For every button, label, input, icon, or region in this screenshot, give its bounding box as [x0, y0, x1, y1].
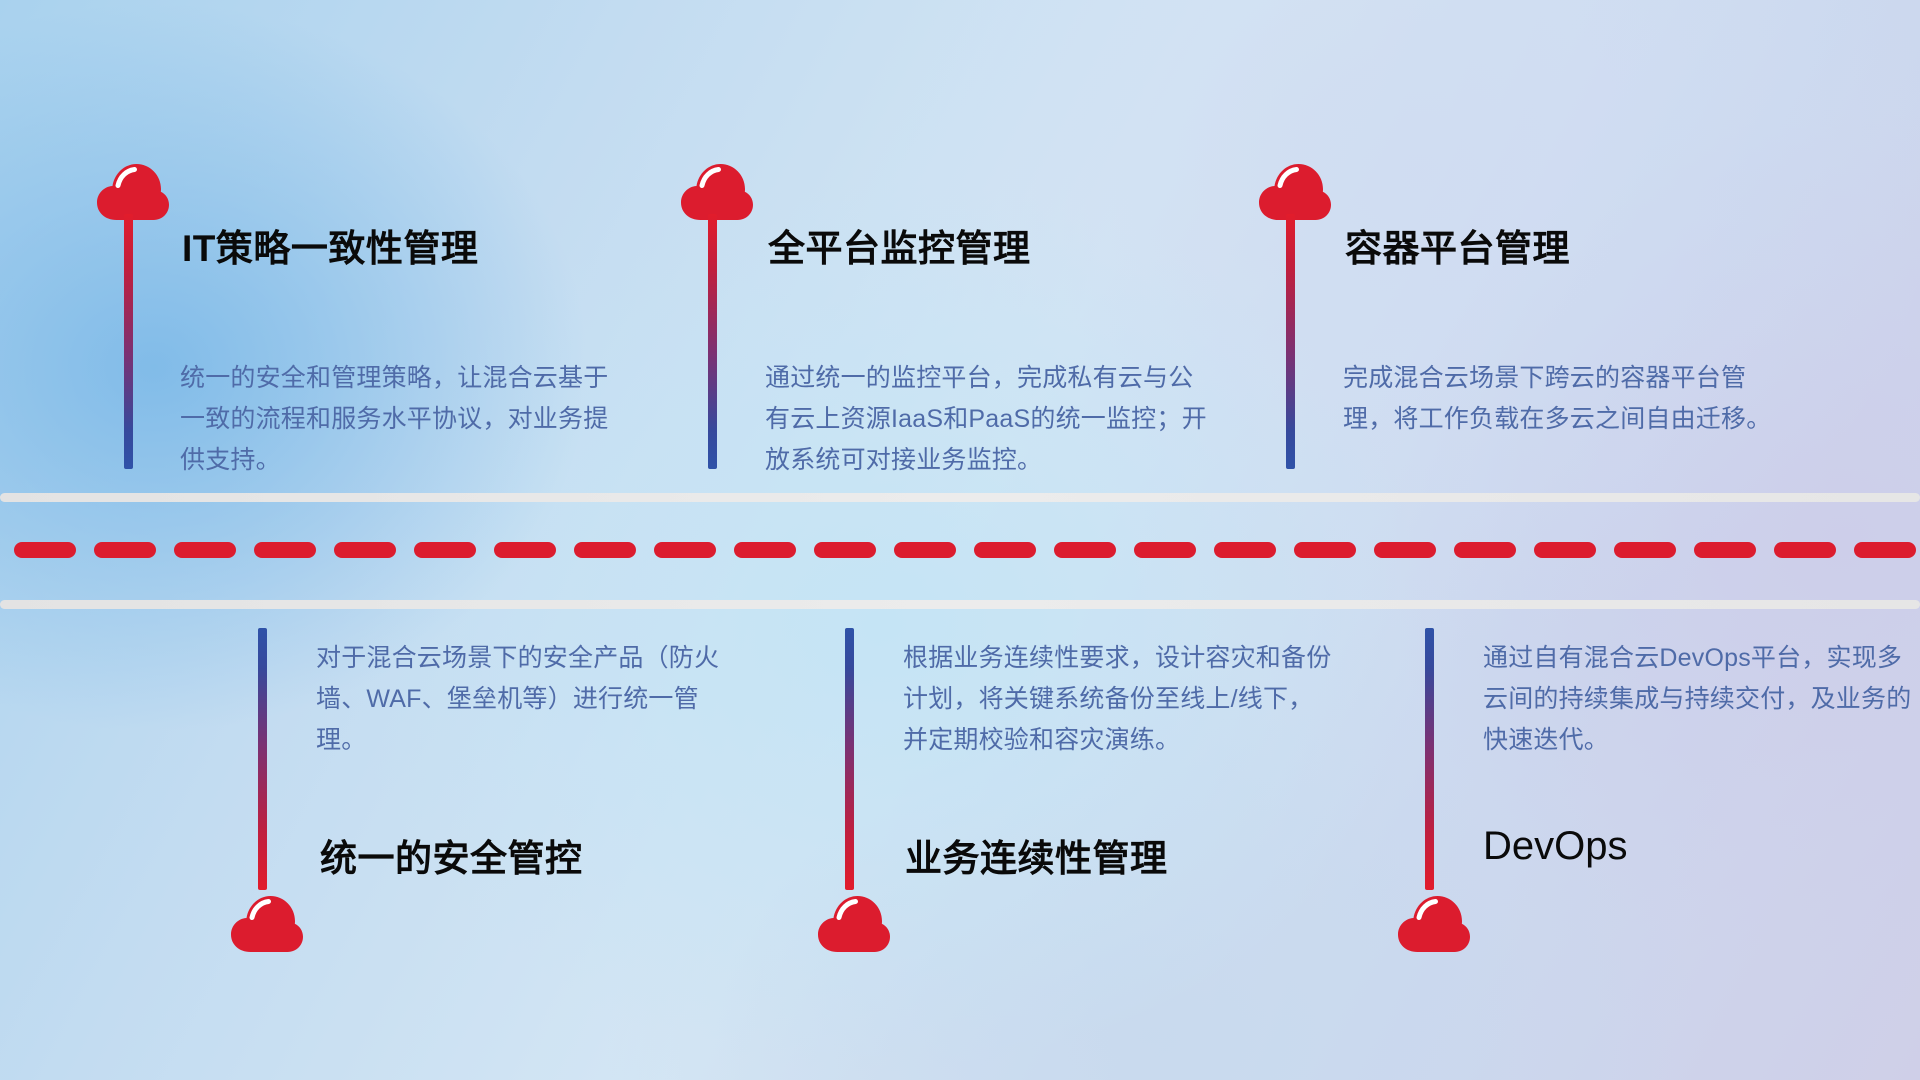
infographic-canvas: IT策略一致性管理 统一的安全和管理策略，让混合云基于一致的流程和服务水平协议，…	[0, 0, 1920, 1080]
road-dashed-centerline	[0, 542, 1920, 558]
road-dash-segment	[654, 542, 716, 558]
marker-stem	[845, 628, 854, 890]
card-body: 通过自有混合云DevOps平台，实现多云间的持续集成与持续交付，及业务的快速迭代…	[1483, 638, 1913, 761]
road-dash-segment	[174, 542, 236, 558]
road-dash-segment	[974, 542, 1036, 558]
card-body: 统一的安全和管理策略，让混合云基于一致的流程和服务水平协议，对业务提供支持。	[180, 358, 610, 481]
road-dash-segment	[14, 542, 76, 558]
road-dash-segment	[1134, 542, 1196, 558]
road-dash-segment	[1454, 542, 1516, 558]
cloud-pin-icon	[96, 163, 170, 221]
cloud-pin-icon	[817, 895, 891, 953]
card-body: 通过统一的监控平台，完成私有云与公有云上资源IaaS和PaaS的统一监控；开放系…	[765, 358, 1215, 481]
road-dash-segment	[1614, 542, 1676, 558]
cloud-pin-icon	[680, 163, 754, 221]
road-dash-segment	[94, 542, 156, 558]
card-title: IT策略一致性管理	[182, 218, 478, 272]
road-dash-segment	[894, 542, 956, 558]
marker-stem	[124, 214, 133, 469]
road-dash-segment	[1294, 542, 1356, 558]
cloud-pin-icon	[1258, 163, 1332, 221]
road-dash-segment	[1374, 542, 1436, 558]
road-dash-segment	[1054, 542, 1116, 558]
card-body: 对于混合云场景下的安全产品（防火墙、WAF、堡垒机等）进行统一管理。	[316, 638, 746, 761]
cloud-pin-icon	[230, 895, 304, 953]
card-body: 完成混合云场景下跨云的容器平台管理，将工作负载在多云之间自由迁移。	[1343, 358, 1793, 440]
marker-stem	[708, 214, 717, 469]
road-dash-segment	[1854, 542, 1916, 558]
marker-stem	[258, 628, 267, 890]
marker-stem	[1425, 628, 1434, 890]
road-line-lower	[0, 600, 1920, 609]
road-dash-segment	[1214, 542, 1276, 558]
card-title: DevOps	[1483, 824, 1628, 869]
cloud-pin-icon	[1397, 895, 1471, 953]
road-line-upper	[0, 493, 1920, 502]
card-title: 统一的安全管控	[320, 828, 583, 882]
road-dash-segment	[734, 542, 796, 558]
road-dash-segment	[814, 542, 876, 558]
road-dash-segment	[1774, 542, 1836, 558]
marker-stem	[1286, 214, 1295, 469]
road-dash-segment	[1534, 542, 1596, 558]
road-dash-segment	[574, 542, 636, 558]
road-dash-segment	[254, 542, 316, 558]
card-title: 全平台监控管理	[768, 218, 1031, 272]
road-dash-segment	[1694, 542, 1756, 558]
road-dash-segment	[414, 542, 476, 558]
card-title: 容器平台管理	[1345, 218, 1570, 272]
card-body: 根据业务连续性要求，设计容灾和备份计划，将关键系统备份至线上/线下，并定期校验和…	[903, 638, 1333, 761]
road-dash-segment	[494, 542, 556, 558]
card-title: 业务连续性管理	[905, 828, 1168, 882]
road-dash-segment	[334, 542, 396, 558]
